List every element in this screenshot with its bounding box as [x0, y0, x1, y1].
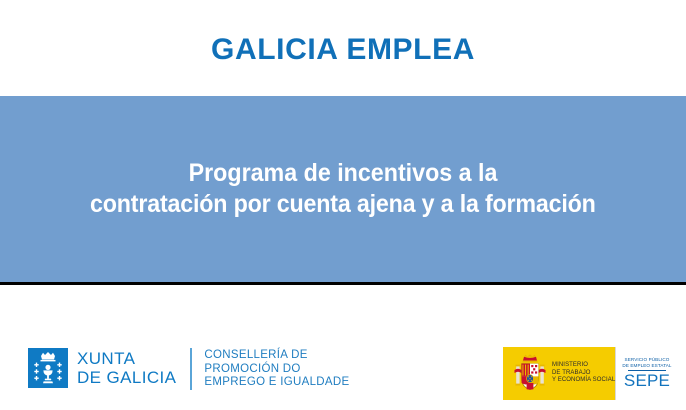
conselleria-line-1: CONSELLERÍA DE — [204, 349, 349, 363]
banner-line-1: Programa de incentivos a la — [189, 158, 498, 189]
xunta-wordmark-line-2: DE GALICIA — [77, 368, 176, 387]
ministerio-text: MINISTERIO DE TRABAJO Y ECONOMÍA SOCIAL — [552, 362, 615, 384]
conselleria-line-3: EMPREGO E IGUALDADE — [204, 376, 349, 390]
banner-line-2: contratación por cuenta ajena y a la for… — [90, 189, 596, 220]
gobierno-espana-logos: MINISTERIO DE TRABAJO Y ECONOMÍA SOCIAL … — [503, 347, 678, 400]
xunta-wordmark: XUNTA DE GALICIA — [77, 348, 176, 387]
xunta-de-galicia-logo: XUNTA DE GALICIA CONSELLERÍA DE PROMOCIÓ… — [28, 348, 349, 390]
program-banner: Programa de incentivos a la contratación… — [0, 96, 686, 282]
logo-separator — [190, 348, 192, 390]
sepe-wordmark: SEPE — [624, 372, 670, 390]
page-title: GALICIA EMPLEA — [211, 33, 475, 67]
xunta-emblem-svg — [28, 348, 68, 388]
sepe-logo: SERVICIO PÚBLICO DE EMPLEO ESTATAL SEPE — [615, 347, 678, 400]
xunta-wordmark-line-1: XUNTA — [77, 349, 176, 368]
ministerio-trabajo-logo: MINISTERIO DE TRABAJO Y ECONOMÍA SOCIAL — [503, 347, 615, 400]
spain-coat-of-arms-icon — [513, 354, 547, 394]
title-zone: GALICIA EMPLEA — [0, 0, 686, 96]
sepe-subtitle-line-1: SERVICIO PÚBLICO — [622, 357, 671, 363]
footer-logo-bar: XUNTA DE GALICIA CONSELLERÍA DE PROMOCIÓ… — [0, 285, 686, 410]
sepe-subtitle: SERVICIO PÚBLICO DE EMPLEO ESTATAL — [622, 357, 671, 368]
ministerio-line-3: Y ECONOMÍA SOCIAL — [552, 377, 615, 384]
sepe-subtitle-line-2: DE EMPLEO ESTATAL — [622, 363, 671, 369]
conselleria-line-2: PROMOCIÓN DO — [204, 363, 349, 377]
conselleria-text: CONSELLERÍA DE PROMOCIÓN DO EMPREGO E IG… — [204, 348, 349, 390]
ministerio-line-1: MINISTERIO — [552, 362, 615, 369]
xunta-coat-of-arms-icon — [28, 348, 68, 388]
